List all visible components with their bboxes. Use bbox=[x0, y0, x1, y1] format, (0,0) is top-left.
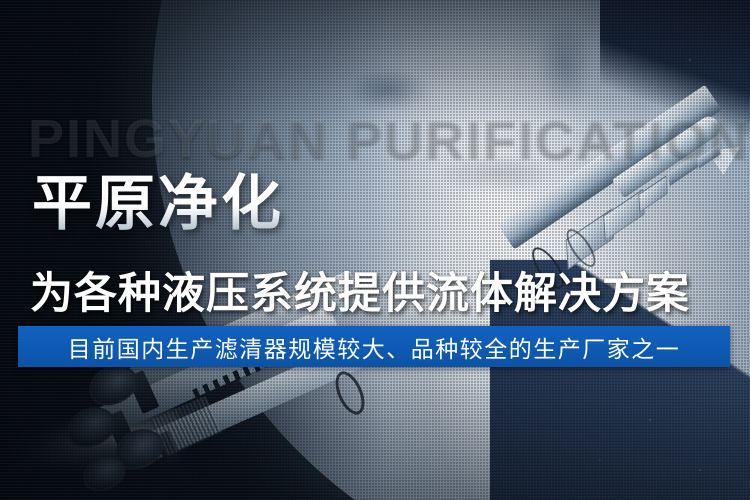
booster-ring bbox=[330, 367, 371, 419]
brand-title: 平原净化 bbox=[32, 172, 284, 235]
ribbon-caption: 目前国内生产滤清器规模较大、品种较全的生产厂家之一 bbox=[18, 330, 730, 364]
rocket-booster-cluster-icon bbox=[70, 368, 390, 500]
tagline-heading: 为各种液压系统提供流体解决方案 bbox=[30, 259, 690, 321]
ribbon-banner: 目前国内生产滤清器规模较大、品种较全的生产厂家之一 bbox=[18, 326, 730, 367]
promo-banner: PINGYUAN PURIFICATION 平原净化 为各种液压系统提供流体解决… bbox=[0, 0, 750, 500]
